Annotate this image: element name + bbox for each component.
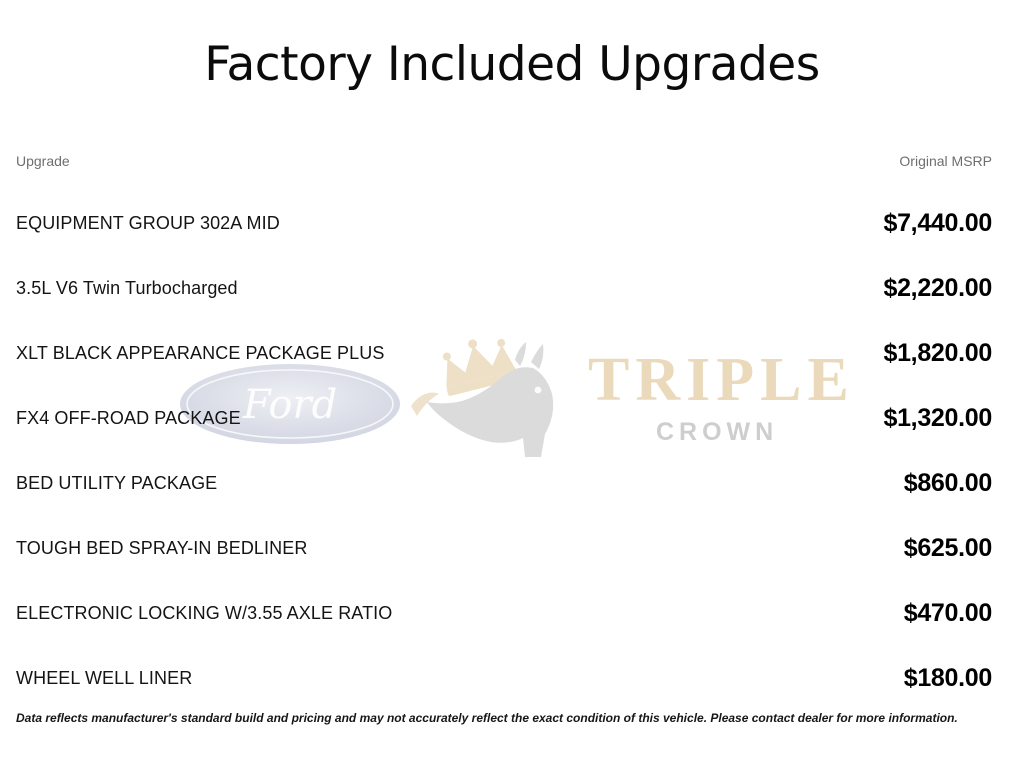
table-row: EQUIPMENT GROUP 302A MID$7,440.00 (16, 190, 992, 255)
upgrade-price: $1,320.00 (676, 385, 992, 450)
disclaimer-text: Data reflects manufacturer's standard bu… (16, 710, 1008, 726)
upgrade-price: $860.00 (676, 450, 992, 515)
table-row: XLT BLACK APPEARANCE PACKAGE PLUS$1,820.… (16, 320, 992, 385)
upgrade-name: EQUIPMENT GROUP 302A MID (16, 190, 676, 255)
upgrade-name: BED UTILITY PACKAGE (16, 450, 676, 515)
table-header-row: Upgrade Original MSRP (16, 152, 992, 190)
upgrade-price: $625.00 (676, 515, 992, 580)
upgrade-price: $2,220.00 (676, 255, 992, 320)
column-header-upgrade: Upgrade (16, 152, 676, 190)
upgrade-name: TOUGH BED SPRAY-IN BEDLINER (16, 515, 676, 580)
upgrade-name: XLT BLACK APPEARANCE PACKAGE PLUS (16, 320, 676, 385)
table-row: FX4 OFF-ROAD PACKAGE$1,320.00 (16, 385, 992, 450)
upgrade-name: ELECTRONIC LOCKING W/3.55 AXLE RATIO (16, 580, 676, 645)
factory-upgrades-table: Upgrade Original MSRP EQUIPMENT GROUP 30… (16, 152, 992, 710)
upgrade-price: $1,820.00 (676, 320, 992, 385)
upgrade-name: FX4 OFF-ROAD PACKAGE (16, 385, 676, 450)
table-body: EQUIPMENT GROUP 302A MID$7,440.003.5L V6… (16, 190, 992, 710)
table-row: WHEEL WELL LINER$180.00 (16, 645, 992, 710)
upgrade-price: $7,440.00 (676, 190, 992, 255)
upgrade-price: $180.00 (676, 645, 992, 710)
upgrade-name: WHEEL WELL LINER (16, 645, 676, 710)
upgrade-name: 3.5L V6 Twin Turbocharged (16, 255, 676, 320)
table-row: 3.5L V6 Twin Turbocharged$2,220.00 (16, 255, 992, 320)
upgrade-price: $470.00 (676, 580, 992, 645)
table-row: BED UTILITY PACKAGE$860.00 (16, 450, 992, 515)
column-header-original-msrp: Original MSRP (676, 152, 992, 190)
table-row: TOUGH BED SPRAY-IN BEDLINER$625.00 (16, 515, 992, 580)
page-content: Factory Included Upgrades Upgrade Origin… (0, 0, 1024, 768)
page-title: Factory Included Upgrades (0, 36, 1024, 94)
table-header: Upgrade Original MSRP (16, 152, 992, 190)
table-row: ELECTRONIC LOCKING W/3.55 AXLE RATIO$470… (16, 580, 992, 645)
